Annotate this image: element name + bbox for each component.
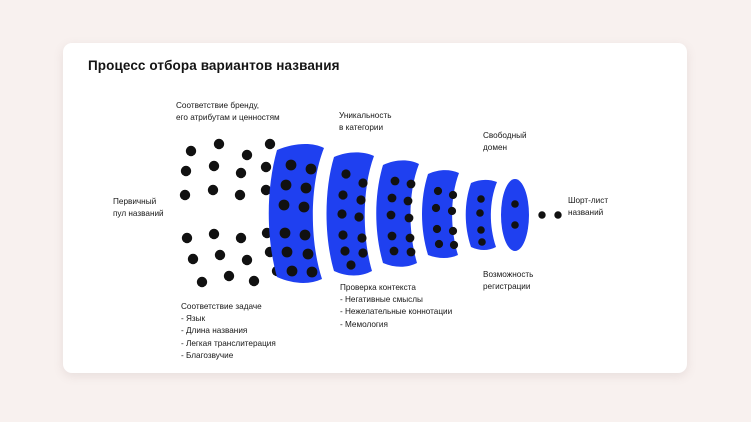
funnel-stage-4 — [422, 170, 459, 258]
funnel-stage-1 — [269, 144, 324, 283]
content-card: Процесс отбора вариантов названия — [63, 43, 687, 373]
label-initial-pool: Первичный пул названий — [113, 196, 164, 219]
label-shortlist: Шорт-лист названий — [568, 195, 608, 218]
label-registration: Возможность регистрации — [483, 269, 533, 292]
funnel-stage-3 — [376, 160, 419, 266]
funnel-stage-2 — [327, 152, 375, 275]
label-brand-fit: Соответствие бренду, его атрибутам и цен… — [176, 100, 280, 123]
shortlist-dots — [538, 211, 561, 218]
funnel-stage-6 — [501, 179, 529, 251]
label-task-fit: Соответствие задаче - Язык - Длина назва… — [181, 301, 276, 362]
label-context-check: Проверка контекста - Негативные смыслы -… — [340, 282, 452, 331]
label-free-domain: Свободный домен — [483, 130, 527, 153]
initial-pool-dot-cloud — [180, 139, 282, 287]
label-uniqueness: Уникальность в категории — [339, 110, 391, 133]
slide-canvas: Процесс отбора вариантов названия — [0, 0, 751, 422]
funnel-stage-5 — [466, 180, 497, 250]
